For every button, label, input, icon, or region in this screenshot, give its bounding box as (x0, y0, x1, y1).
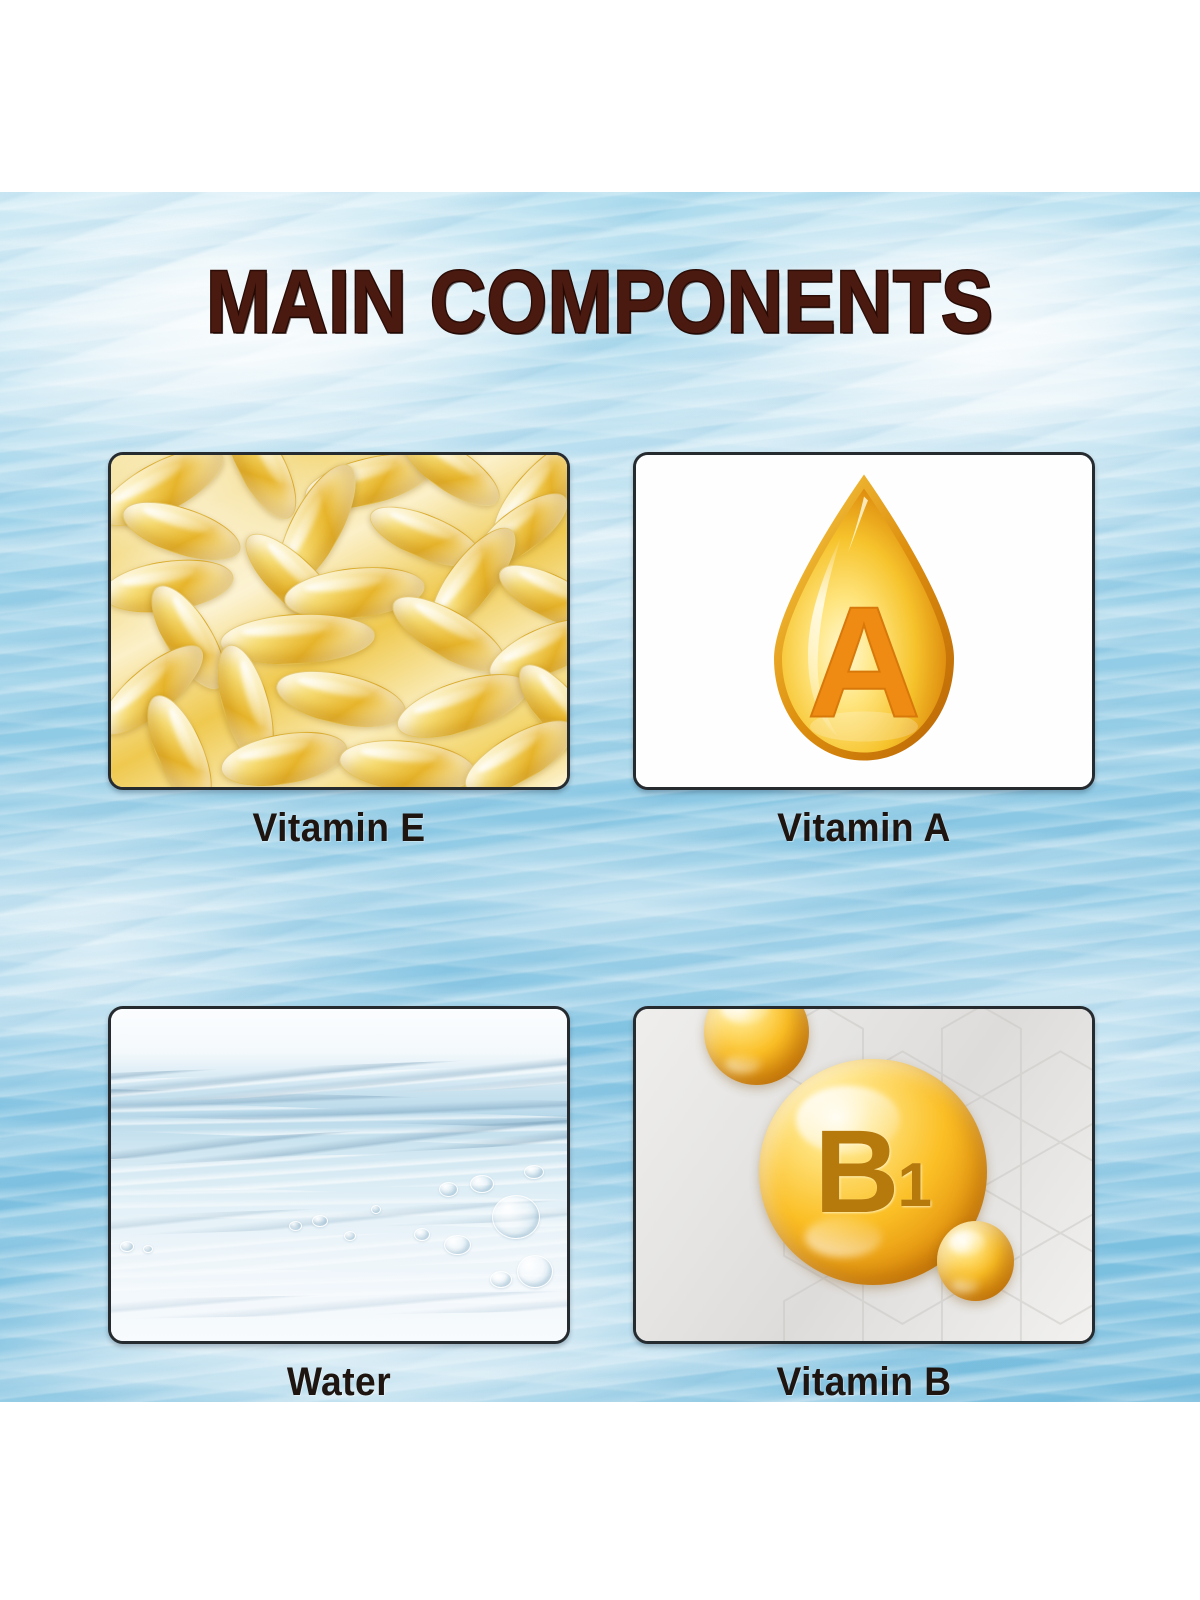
component-card-vitamin-b[interactable]: B 1 Vitamin B (633, 1006, 1095, 1405)
water-surface-icon (111, 1009, 567, 1341)
page-title: MAIN COMPONENTS (72, 258, 1128, 346)
component-card-water[interactable]: Water (108, 1006, 570, 1405)
vitamin-a-label: Vitamin A (649, 806, 1079, 851)
vitamin-b-image-frame: B 1 (633, 1006, 1095, 1344)
component-card-vitamin-a[interactable]: A Vitamin A (633, 452, 1095, 851)
small-vitamin-droplet-bottom (937, 1221, 1015, 1301)
vitamin-e-image-frame (108, 452, 570, 790)
softgel-capsules-icon (111, 455, 567, 787)
components-grid: Vitamin E (108, 452, 1096, 1405)
components-row-2: Water (108, 1006, 1096, 1405)
infographic-canvas: MAIN COMPONENTS (0, 0, 1200, 1600)
water-label: Water (124, 1360, 554, 1405)
components-row-1: Vitamin E (108, 452, 1096, 851)
component-card-vitamin-e[interactable]: Vitamin E (108, 452, 570, 851)
top-letterbox-band (0, 0, 1200, 192)
bottom-letterbox-band (0, 1402, 1200, 1600)
vitamin-e-label: Vitamin E (124, 806, 554, 851)
sphere-letter: B (814, 1113, 897, 1231)
sphere-subscript: 1 (897, 1155, 931, 1217)
vitamin-b-label: Vitamin B (649, 1360, 1079, 1405)
water-image-frame (108, 1006, 570, 1344)
oil-drop-svg: A (750, 469, 978, 769)
drop-letter: A (807, 575, 921, 751)
oil-drop-icon: A (750, 469, 978, 774)
vitamin-a-image-frame: A (633, 452, 1095, 790)
